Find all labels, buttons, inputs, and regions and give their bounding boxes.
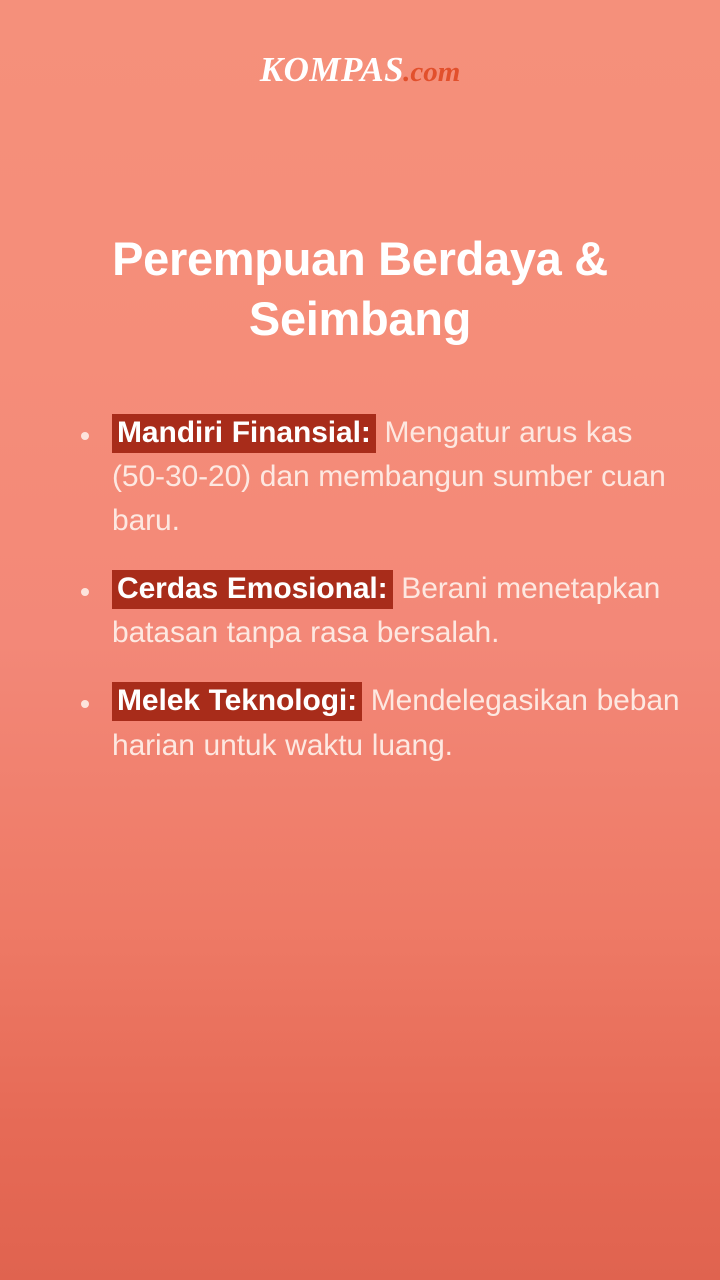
brand-name: KOMPAS	[260, 50, 404, 89]
list-item-lead: Cerdas Emosional:	[112, 570, 393, 609]
list-item-lead: Mandiri Finansial:	[112, 414, 376, 453]
bullet-dot-icon	[81, 588, 89, 596]
kompas-wordmark-logo: KOMPAS.com	[0, 52, 720, 87]
list-item: Mandiri Finansial: Mengatur arus kas (50…	[70, 411, 680, 543]
list-item: Cerdas Emosional: Berani menetapkan bata…	[70, 567, 680, 655]
list-item-text: Melek Teknologi: Mendelegasikan beban ha…	[112, 679, 680, 767]
list-item-text: Cerdas Emosional: Berani menetapkan bata…	[112, 567, 680, 655]
bullet-dot-icon	[81, 432, 89, 440]
page-title: Perempuan Berdaya & Seimbang	[60, 229, 660, 349]
list-item-text: Mandiri Finansial: Mengatur arus kas (50…	[112, 411, 680, 543]
list-item-lead: Melek Teknologi:	[112, 682, 362, 721]
infographic-card: KOMPAS.com Perempuan Berdaya & Seimbang …	[0, 0, 720, 1280]
bullet-dot-icon	[81, 700, 89, 708]
list-item: Melek Teknologi: Mendelegasikan beban ha…	[70, 679, 680, 767]
brand-tld: .com	[403, 56, 460, 88]
bullet-list: Mandiri Finansial: Mengatur arus kas (50…	[70, 411, 680, 792]
